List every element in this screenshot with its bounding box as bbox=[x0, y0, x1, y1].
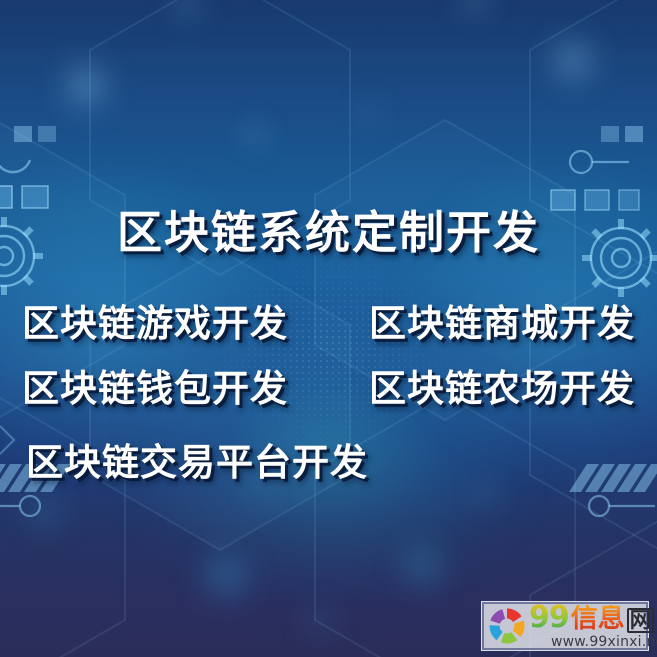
service-item-game: 区块链游戏开发 bbox=[22, 293, 288, 347]
watermark-name-box: 网 bbox=[627, 608, 654, 633]
service-row-2: 区块链钱包开发 区块链农场开发 bbox=[0, 358, 657, 412]
watermark-brand: 99 信息 网 bbox=[529, 603, 654, 633]
watermark-name-cn: 信息 bbox=[571, 605, 625, 632]
service-item-mall: 区块链商城开发 bbox=[369, 293, 635, 347]
service-item-farm: 区块链农场开发 bbox=[369, 358, 635, 412]
watermark-text-group: 99 信息 网 www.99xinxi.net bbox=[529, 603, 657, 649]
service-item-wallet: 区块链钱包开发 bbox=[22, 358, 288, 412]
service-item-exchange: 区块链交易平台开发 bbox=[26, 432, 368, 486]
poster-canvas: 区块链系统定制开发 区块链游戏开发 区块链商城开发 区块链钱包开发 区块链农场开… bbox=[0, 0, 657, 657]
watermark-url: www.99xinxi.net bbox=[551, 635, 657, 649]
service-row-1: 区块链游戏开发 区块链商城开发 bbox=[0, 293, 657, 347]
headline-group: 区块链系统定制开发 区块链游戏开发 区块链商城开发 区块链钱包开发 区块链农场开… bbox=[0, 0, 657, 657]
service-row-3: 区块链交易平台开发 bbox=[0, 432, 657, 486]
watermark-digits: 99 bbox=[529, 603, 569, 633]
pinwheel-logo-icon bbox=[485, 604, 529, 648]
watermark-badge: 99 信息 网 www.99xinxi.net bbox=[481, 601, 649, 651]
page-title: 区块链系统定制开发 bbox=[0, 196, 657, 261]
